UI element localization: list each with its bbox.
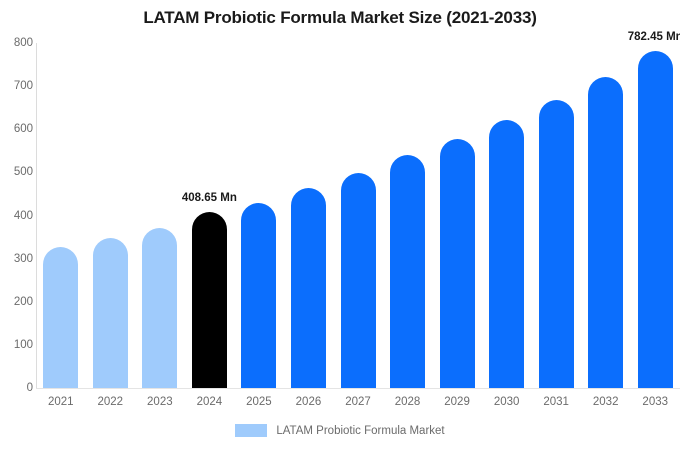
bar-2026[interactable] — [291, 188, 326, 388]
bar-2022[interactable] — [93, 238, 128, 388]
legend-swatch-latam-probiotic-formula-market — [235, 424, 267, 437]
bar-value-label-2033: 782.45 Mn — [619, 31, 680, 43]
bar-2027[interactable] — [341, 173, 376, 388]
x-axis-tick-2026: 2026 — [284, 396, 334, 408]
bar-value-label-2024: 408.65 Mn — [173, 192, 245, 204]
x-axis-tick-2021: 2021 — [36, 396, 86, 408]
bar-2021[interactable] — [43, 247, 78, 388]
x-axis-tick-2033: 2033 — [630, 396, 680, 408]
x-axis-tick-2025: 2025 — [234, 396, 284, 408]
x-axis-tick-2029: 2029 — [432, 396, 482, 408]
chart-legend: LATAM Probiotic Formula Market — [0, 424, 680, 437]
bar-2024[interactable] — [192, 212, 227, 388]
x-axis-tick-2022: 2022 — [86, 396, 136, 408]
bar-2033[interactable] — [638, 51, 673, 388]
chart-container: LATAM Probiotic Formula Market Size (202… — [0, 0, 680, 450]
bar-2029[interactable] — [440, 139, 475, 388]
x-axis-tick-2024: 2024 — [185, 396, 235, 408]
bar-2023[interactable] — [142, 228, 177, 388]
x-axis-tick-2023: 2023 — [135, 396, 185, 408]
bars-layer: 2021202220232024408.65 Mn202520262027202… — [0, 0, 680, 450]
legend-label-latam-probiotic-formula-market: LATAM Probiotic Formula Market — [276, 425, 444, 437]
bar-2032[interactable] — [588, 77, 623, 388]
bar-2031[interactable] — [539, 100, 574, 388]
x-axis-tick-2028: 2028 — [383, 396, 433, 408]
x-axis-tick-2030: 2030 — [482, 396, 532, 408]
x-axis-tick-2032: 2032 — [581, 396, 631, 408]
bar-2025[interactable] — [241, 203, 276, 388]
bar-2028[interactable] — [390, 155, 425, 388]
x-axis-tick-2031: 2031 — [531, 396, 581, 408]
bar-2030[interactable] — [489, 120, 524, 388]
x-axis-tick-2027: 2027 — [333, 396, 383, 408]
